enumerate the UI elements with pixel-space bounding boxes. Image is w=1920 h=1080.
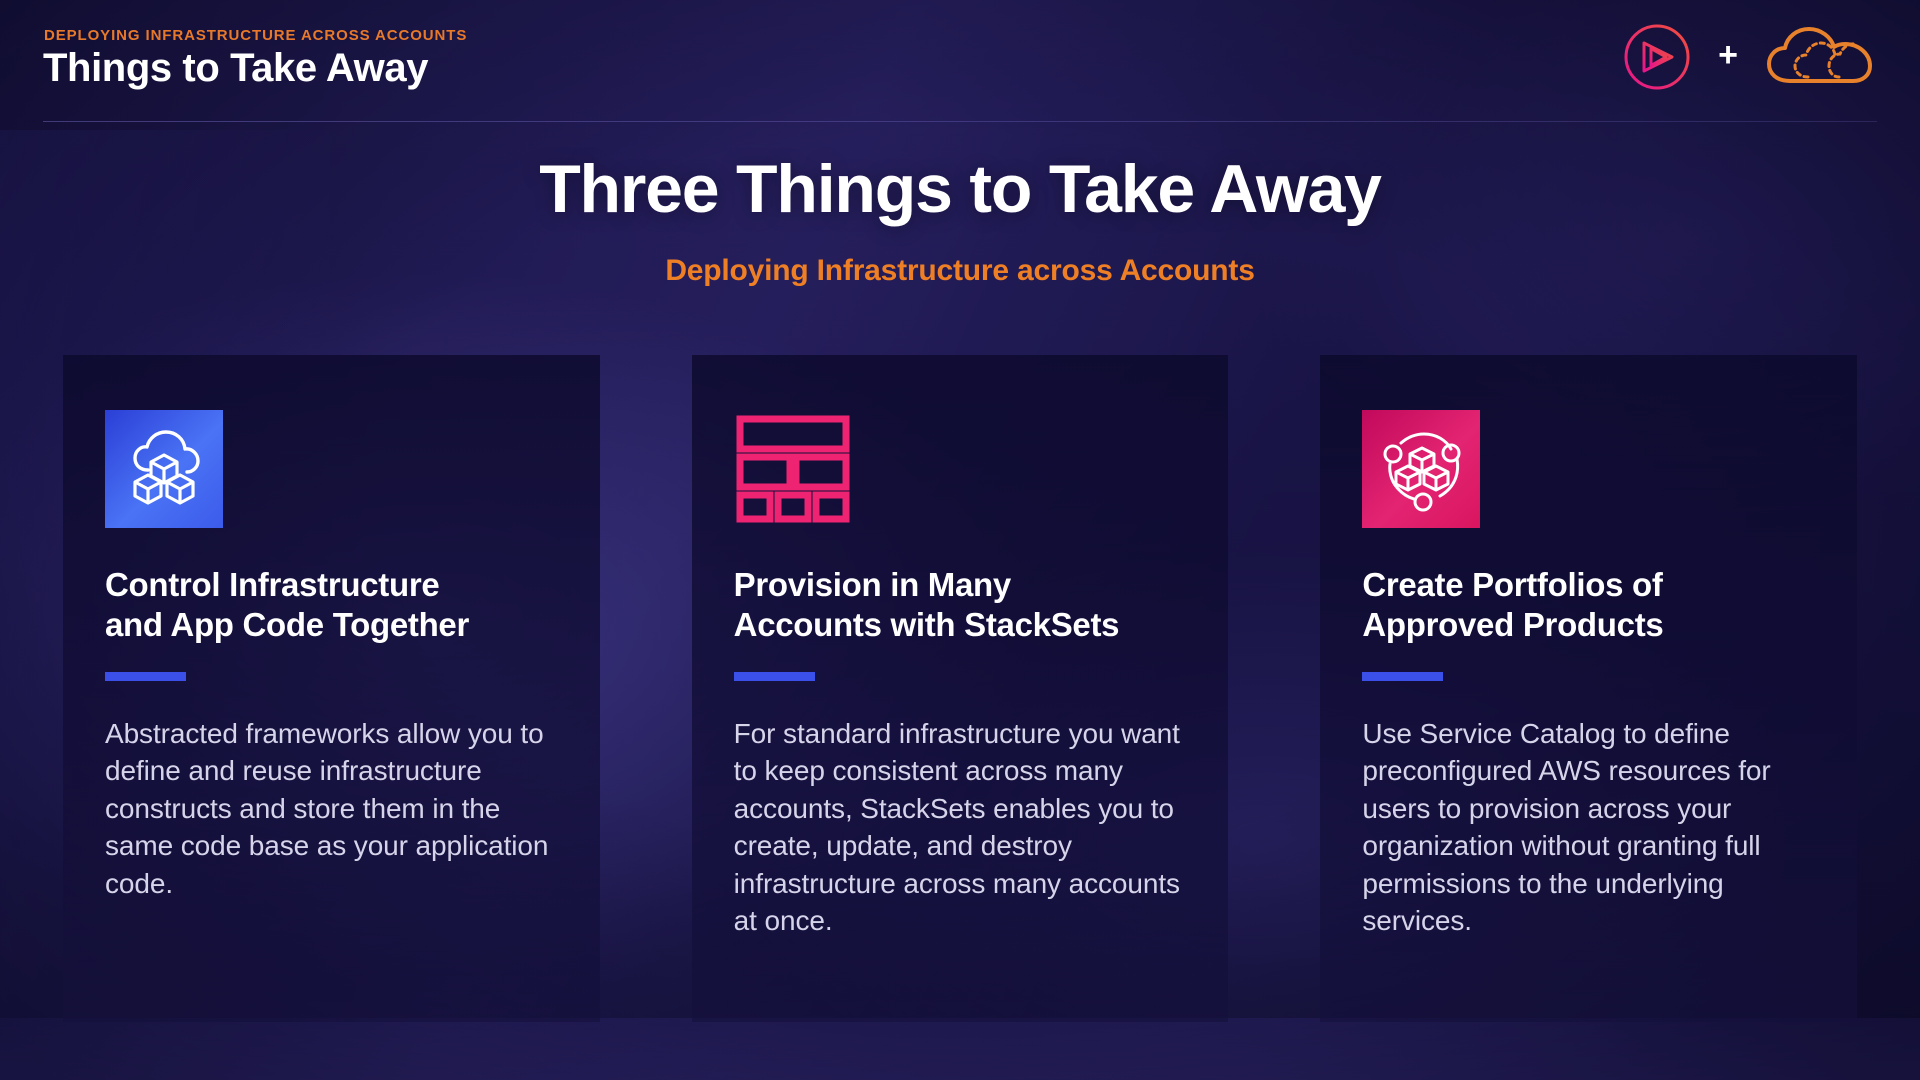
brand-lockup: + bbox=[1622, 22, 1876, 92]
card-3-body: Use Service Catalog to define preconfigu… bbox=[1362, 715, 1815, 940]
slide-header: DEPLOYING INFRASTRUCTURE ACROSS ACCOUNTS… bbox=[0, 0, 1920, 122]
card-1-body: Abstracted frameworks allow you to defin… bbox=[105, 715, 558, 903]
takeaway-card-3: Create Portfolios of Approved Products U… bbox=[1320, 355, 1857, 1022]
brand-plus-symbol: + bbox=[1718, 38, 1738, 72]
card-3-icon-tile bbox=[1362, 410, 1480, 528]
card-1-icon-wrap bbox=[105, 409, 558, 529]
takeaway-card-2: Provision in Many Accounts with StackSet… bbox=[692, 355, 1229, 1022]
hero-section: Three Things to Take Away Deploying Infr… bbox=[0, 150, 1920, 288]
service-catalog-orbit-cubes-icon bbox=[1378, 426, 1464, 512]
card-3-icon-wrap bbox=[1362, 409, 1815, 529]
header-divider bbox=[43, 121, 1877, 122]
card-1-accent-rule bbox=[105, 672, 186, 681]
card-3-accent-rule bbox=[1362, 672, 1443, 681]
header-title: Things to Take Away bbox=[43, 46, 428, 91]
slide-title: Three Things to Take Away bbox=[0, 150, 1920, 228]
card-2-icon-tile bbox=[734, 410, 852, 528]
card-2-heading: Provision in Many Accounts with StackSet… bbox=[734, 565, 1187, 646]
card-1-icon-tile bbox=[105, 410, 223, 528]
acloudguru-logo bbox=[1622, 22, 1692, 92]
takeaway-cards: Control Infrastructure and App Code Toge… bbox=[63, 355, 1857, 1022]
card-2-body: For standard infrastructure you want to … bbox=[734, 715, 1187, 940]
card-2-icon-wrap bbox=[734, 409, 1187, 529]
takeaway-card-1: Control Infrastructure and App Code Toge… bbox=[63, 355, 600, 1022]
card-3-heading: Create Portfolios of Approved Products bbox=[1362, 565, 1815, 646]
card-1-heading: Control Infrastructure and App Code Toge… bbox=[105, 565, 558, 646]
card-2-accent-rule bbox=[734, 672, 815, 681]
cloud-cubes-icon bbox=[122, 427, 206, 511]
header-eyebrow: DEPLOYING INFRASTRUCTURE ACROSS ACCOUNTS bbox=[44, 27, 467, 44]
stacksets-grid-icon bbox=[735, 415, 851, 523]
slide-subtitle: Deploying Infrastructure across Accounts bbox=[0, 254, 1920, 288]
aws-cloud-logo bbox=[1764, 25, 1876, 89]
